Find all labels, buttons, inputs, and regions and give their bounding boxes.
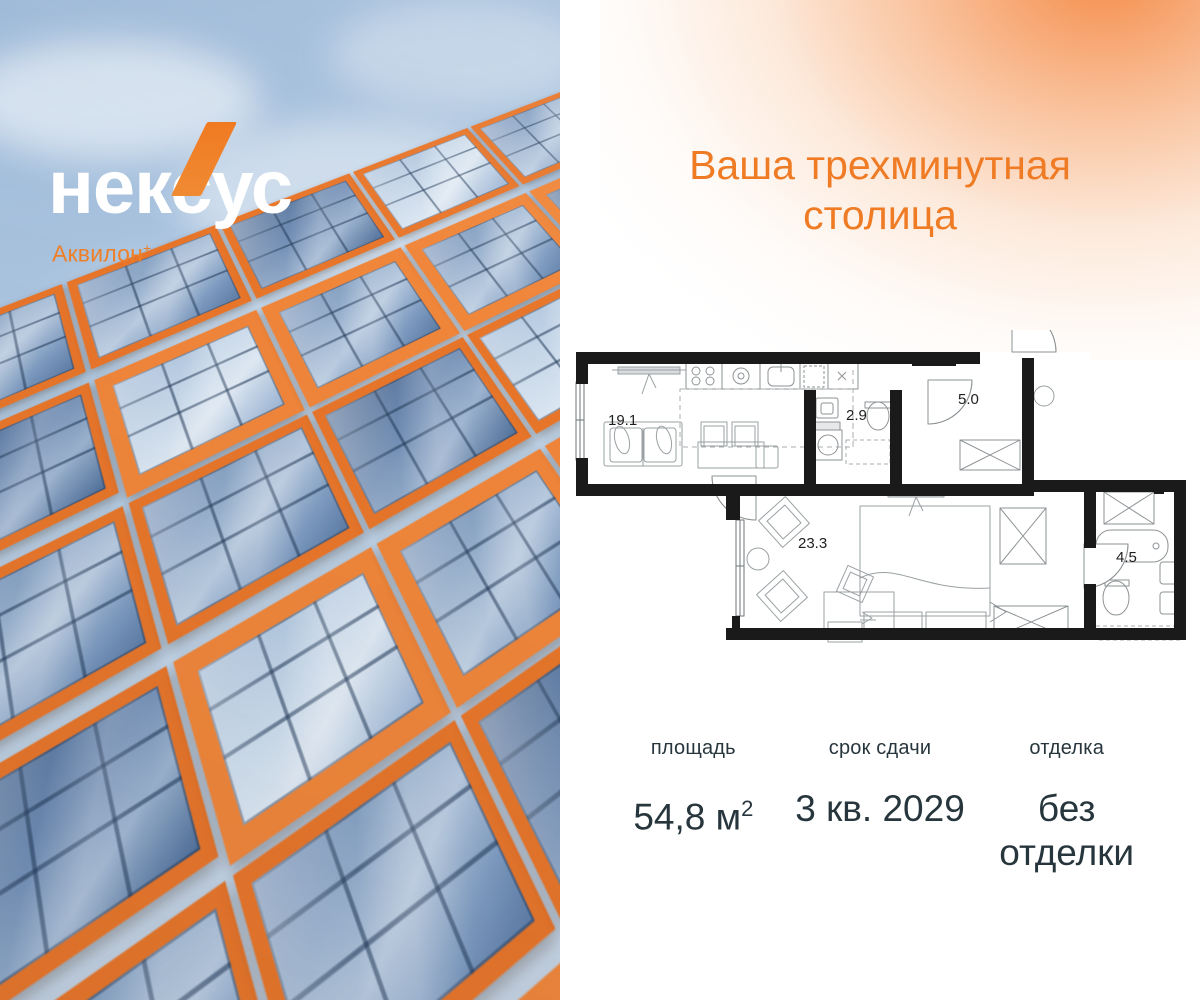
building-photo: нексус Аквилон+ [0, 0, 560, 1000]
stat-area-label: площадь [600, 735, 787, 761]
logo-wordmark: нексус [48, 150, 468, 226]
logo-subbrand: Аквилон+ [52, 240, 468, 268]
stat-finishing-label: отделка [973, 735, 1160, 761]
floor-plan-svg: 19.1 5.0 2.9 23.3 4.5 [560, 330, 1200, 650]
stat-deadline-value: 3 кв. 2029 [787, 787, 974, 831]
floor-plan: 19.1 5.0 2.9 23.3 4.5 [560, 330, 1200, 650]
stat-finishing-value: без отделки [973, 787, 1160, 875]
headline-line-2: столица [600, 190, 1160, 240]
stat-area-value-text: 54,8 м [633, 796, 741, 837]
room-label-2-9: 2.9 [846, 407, 867, 424]
content-panel: Ваша трехминутная столица [560, 0, 1200, 1000]
page-title: Ваша трехминутная столица [600, 140, 1160, 240]
logo-subbrand-text: Аквилон [52, 241, 143, 267]
headline-line-1: Ваша трехминутная [600, 140, 1160, 190]
stat-deadline-label: срок сдачи [787, 735, 974, 761]
promo-page: нексус Аквилон+ Ваша трехминутная столиц… [0, 0, 1200, 1000]
logo-wordmark-text: нексус [48, 145, 292, 230]
room-label-23-3: 23.3 [798, 535, 827, 552]
logo-subbrand-sup: + [143, 240, 151, 256]
stat-area: площадь 54,8 м2 [600, 735, 787, 875]
stat-deadline: срок сдачи 3 кв. 2029 [787, 735, 974, 875]
stat-area-value-sup: 2 [741, 796, 753, 821]
stat-finishing: отделка без отделки [973, 735, 1160, 875]
brand-logo: нексус Аквилон+ [48, 150, 468, 268]
room-label-4-5: 4.5 [1116, 549, 1137, 566]
stat-area-value: 54,8 м2 [600, 787, 787, 839]
room-label-5-0: 5.0 [958, 391, 979, 408]
room-label-19-1: 19.1 [608, 412, 637, 429]
specs-row: площадь 54,8 м2 срок сдачи 3 кв. 2029 от… [600, 735, 1160, 875]
